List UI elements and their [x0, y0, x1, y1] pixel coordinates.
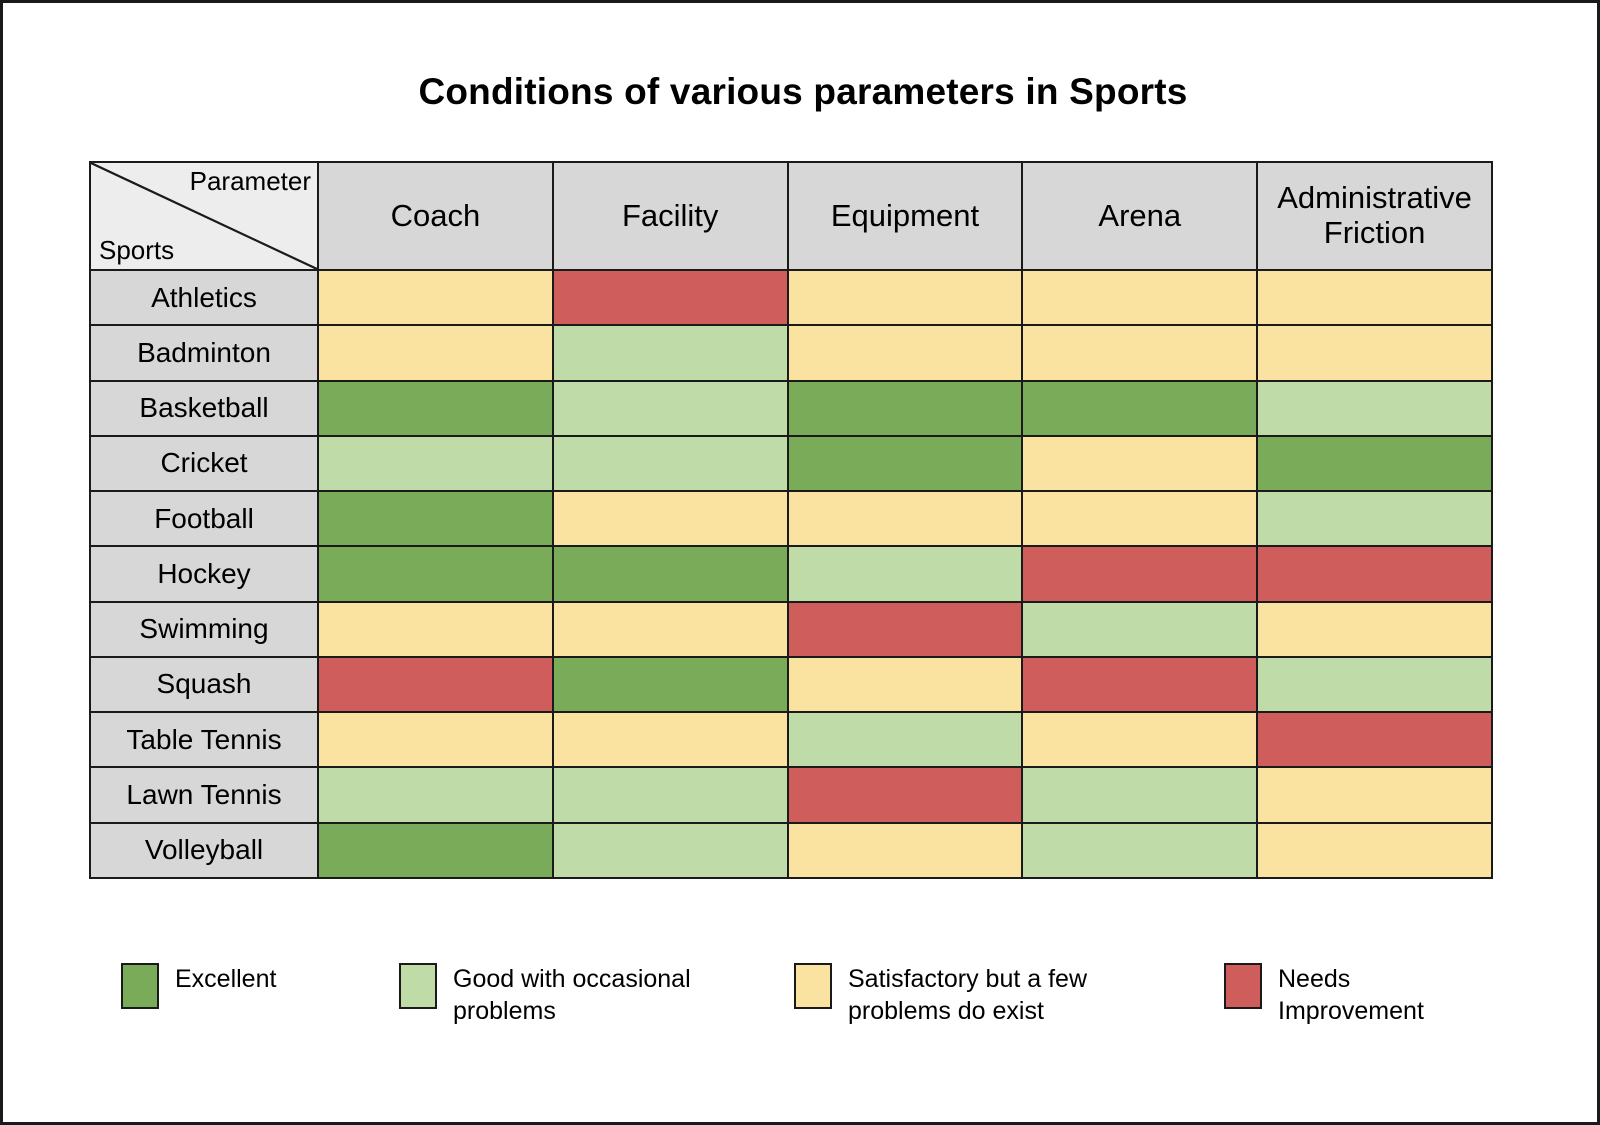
- legend-item-excellent: Excellent: [121, 953, 371, 1009]
- heatmap-cell: [788, 602, 1023, 657]
- heatmap-cell: [553, 381, 788, 436]
- heatmap-cell: [1022, 657, 1257, 712]
- heatmap-cell: [1257, 823, 1492, 878]
- table-row: Football: [90, 491, 1492, 546]
- heatmap-cell: [788, 491, 1023, 546]
- row-header-squash: Squash: [90, 657, 318, 712]
- legend-label-needs-improvement: Needs Improvement: [1278, 953, 1424, 1027]
- legend-label-good: Good with occasional problems: [453, 953, 691, 1027]
- table-row: Lawn Tennis: [90, 767, 1492, 822]
- heatmap-cell: [1022, 436, 1257, 491]
- table-row: Badminton: [90, 325, 1492, 380]
- row-header-hockey: Hockey: [90, 546, 318, 601]
- legend-swatch-satisfactory: [794, 963, 832, 1009]
- legend-item-satisfactory: Satisfactory but a few problems do exist: [794, 953, 1134, 1027]
- heatmap-cell: [1257, 712, 1492, 767]
- heatmap-cell: [788, 381, 1023, 436]
- heatmap-cell: [553, 712, 788, 767]
- table-row: Athletics: [90, 270, 1492, 325]
- table-row: Swimming: [90, 602, 1492, 657]
- heatmap-cell: [553, 491, 788, 546]
- axis-label-parameter: Parameter: [190, 167, 311, 196]
- heatmap-cell: [1022, 491, 1257, 546]
- header-row: Parameter Sports Coach Facility Equipmen…: [90, 162, 1492, 270]
- row-header-swimming: Swimming: [90, 602, 318, 657]
- heatmap-cell: [1257, 381, 1492, 436]
- heatmap-cell: [788, 767, 1023, 822]
- column-header-administrative-friction: Administrative Friction: [1257, 162, 1492, 270]
- heatmap-cell: [1022, 602, 1257, 657]
- chart-canvas: Conditions of various parameters in Spor…: [0, 0, 1600, 1125]
- heatmap-cell: [1257, 436, 1492, 491]
- row-header-volleyball: Volleyball: [90, 823, 318, 878]
- heatmap-cell: [788, 712, 1023, 767]
- row-header-badminton: Badminton: [90, 325, 318, 380]
- heatmap-cell: [1022, 325, 1257, 380]
- heatmap-cell: [553, 657, 788, 712]
- heatmap-cell: [318, 270, 553, 325]
- axis-label-sports: Sports: [99, 236, 174, 265]
- table-row: Basketball: [90, 381, 1492, 436]
- legend-label-excellent: Excellent: [175, 953, 276, 995]
- row-header-athletics: Athletics: [90, 270, 318, 325]
- legend-label-satisfactory: Satisfactory but a few problems do exist: [848, 953, 1087, 1027]
- table-row: Table Tennis: [90, 712, 1492, 767]
- heatmap-cell: [553, 436, 788, 491]
- legend-item-needs-improvement: Needs Improvement: [1224, 953, 1524, 1027]
- heatmap-cell: [1022, 546, 1257, 601]
- column-header-coach: Coach: [318, 162, 553, 270]
- heatmap-cell: [318, 491, 553, 546]
- heatmap-cell: [1022, 712, 1257, 767]
- heatmap-cell: [318, 436, 553, 491]
- table-row: Cricket: [90, 436, 1492, 491]
- heatmap-cell: [553, 767, 788, 822]
- chart-title: Conditions of various parameters in Spor…: [3, 71, 1600, 113]
- heatmap-cell: [318, 602, 553, 657]
- heatmap-cell: [788, 546, 1023, 601]
- heatmap-cell: [318, 823, 553, 878]
- row-header-basketball: Basketball: [90, 381, 318, 436]
- heatmap-cell: [1022, 270, 1257, 325]
- legend: Excellent Good with occasional problems …: [89, 953, 1509, 1063]
- heatmap-cell: [318, 546, 553, 601]
- heatmap-cell: [1257, 325, 1492, 380]
- column-header-equipment: Equipment: [788, 162, 1023, 270]
- row-header-cricket: Cricket: [90, 436, 318, 491]
- row-header-table-tennis: Table Tennis: [90, 712, 318, 767]
- conditions-table: Parameter Sports Coach Facility Equipmen…: [89, 161, 1493, 879]
- heatmap-cell: [553, 270, 788, 325]
- table-row: Volleyball: [90, 823, 1492, 878]
- heatmap-cell: [788, 436, 1023, 491]
- row-header-football: Football: [90, 491, 318, 546]
- column-header-arena: Arena: [1022, 162, 1257, 270]
- heatmap-cell: [788, 325, 1023, 380]
- table-row: Squash: [90, 657, 1492, 712]
- heatmap-cell: [553, 546, 788, 601]
- heatmap-cell: [318, 381, 553, 436]
- heatmap-matrix: Parameter Sports Coach Facility Equipmen…: [89, 161, 1493, 879]
- row-header-lawn-tennis: Lawn Tennis: [90, 767, 318, 822]
- heatmap-cell: [553, 602, 788, 657]
- heatmap-cell: [553, 325, 788, 380]
- heatmap-cell: [318, 767, 553, 822]
- heatmap-cell: [1022, 767, 1257, 822]
- legend-swatch-needs-improvement: [1224, 963, 1262, 1009]
- heatmap-cell: [1257, 546, 1492, 601]
- heatmap-cell: [1257, 657, 1492, 712]
- heatmap-cell: [788, 657, 1023, 712]
- legend-swatch-good: [399, 963, 437, 1009]
- heatmap-cell: [1257, 767, 1492, 822]
- table-body: AthleticsBadmintonBasketballCricketFootb…: [90, 270, 1492, 878]
- heatmap-cell: [1257, 491, 1492, 546]
- corner-axis-cell: Parameter Sports: [90, 162, 318, 270]
- heatmap-cell: [318, 657, 553, 712]
- column-header-facility: Facility: [553, 162, 788, 270]
- heatmap-cell: [318, 712, 553, 767]
- heatmap-cell: [788, 270, 1023, 325]
- heatmap-cell: [318, 325, 553, 380]
- heatmap-cell: [1022, 381, 1257, 436]
- table-header: Parameter Sports Coach Facility Equipmen…: [90, 162, 1492, 270]
- heatmap-cell: [1257, 602, 1492, 657]
- heatmap-cell: [788, 823, 1023, 878]
- legend-swatch-excellent: [121, 963, 159, 1009]
- heatmap-cell: [553, 823, 788, 878]
- heatmap-cell: [1257, 270, 1492, 325]
- table-row: Hockey: [90, 546, 1492, 601]
- legend-item-good: Good with occasional problems: [399, 953, 729, 1027]
- heatmap-cell: [1022, 823, 1257, 878]
